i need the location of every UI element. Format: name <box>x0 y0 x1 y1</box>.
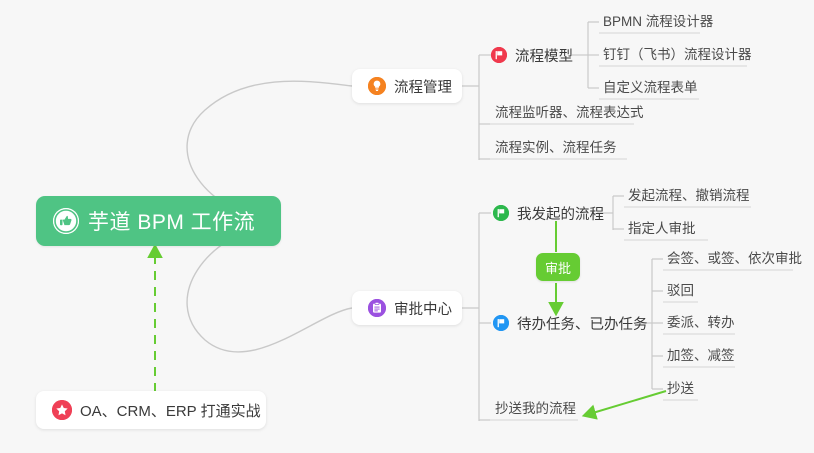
branch-process-management[interactable]: 流程管理 <box>352 69 462 103</box>
flag-icon-blue <box>493 315 509 331</box>
leaf-cc-to-me[interactable]: 抄送我的流程 <box>491 399 580 421</box>
node-label: 我发起的流程 <box>517 203 604 224</box>
leaf-assignee-approval[interactable]: 指定人审批 <box>624 219 700 241</box>
leaf-label: 指定人审批 <box>628 219 696 238</box>
leaf-label: 抄送 <box>667 379 694 398</box>
leaf-cc[interactable]: 抄送 <box>663 379 698 401</box>
leaf-dingtalk-designer[interactable]: 钉钉（飞书）流程设计器 <box>599 45 756 67</box>
leaf-label: 发起流程、撤销流程 <box>628 186 750 205</box>
leaf-label: 委派、转办 <box>667 313 735 332</box>
leaf-label: 钉钉（飞书）流程设计器 <box>603 45 752 64</box>
leaf-label: BPMN 流程设计器 <box>603 12 713 31</box>
node-label: 待办任务、已办任务 <box>517 313 648 334</box>
leaf-label: 会签、或签、依次审批 <box>667 249 802 268</box>
leaf-label: 抄送我的流程 <box>495 399 576 418</box>
node-my-initiated[interactable]: 我发起的流程 <box>491 200 599 226</box>
flag-icon-red <box>491 47 507 63</box>
lightbulb-icon <box>368 77 386 95</box>
leaf-label: 流程实例、流程任务 <box>495 138 617 157</box>
star-icon <box>52 400 72 420</box>
leaf-process-listener[interactable]: 流程监听器、流程表达式 <box>491 103 648 125</box>
annotation-approval-badge: 审批 <box>536 253 580 281</box>
leaf-start-cancel-process[interactable]: 发起流程、撤销流程 <box>624 186 754 208</box>
node-todo-done-tasks[interactable]: 待办任务、已办任务 <box>491 310 639 336</box>
root-node[interactable]: 芋道 BPM 工作流 <box>36 196 281 246</box>
leaf-bpmn-designer[interactable]: BPMN 流程设计器 <box>599 12 717 34</box>
branch-label: 流程管理 <box>394 76 452 97</box>
mindmap-canvas: 芋道 BPM 工作流 流程管理 流程模型 BPMN 流程设计器 钉钉（飞书）流程 <box>0 0 814 453</box>
leaf-add-remove-sign[interactable]: 加签、减签 <box>663 346 739 368</box>
leaf-process-instance[interactable]: 流程实例、流程任务 <box>491 138 621 160</box>
annotation-bottom-label: OA、CRM、ERP 打通实战 <box>80 400 261 421</box>
leaf-reject[interactable]: 驳回 <box>663 281 698 303</box>
leaf-custom-form[interactable]: 自定义流程表单 <box>599 78 702 100</box>
thumbs-up-icon <box>53 208 79 234</box>
node-process-model[interactable]: 流程模型 <box>489 41 572 69</box>
leaf-label: 驳回 <box>667 281 694 300</box>
clipboard-icon <box>368 299 386 317</box>
annotation-bottom-note[interactable]: OA、CRM、ERP 打通实战 <box>36 391 266 429</box>
flag-icon-green <box>493 205 509 221</box>
leaf-label: 流程监听器、流程表达式 <box>495 103 644 122</box>
root-node-label: 芋道 BPM 工作流 <box>88 206 255 236</box>
branch-approval-center[interactable]: 审批中心 <box>352 291 462 325</box>
node-label: 流程模型 <box>515 45 573 66</box>
leaf-label: 自定义流程表单 <box>603 78 698 97</box>
leaf-countersign[interactable]: 会签、或签、依次审批 <box>663 249 806 271</box>
branch-label: 审批中心 <box>394 298 452 319</box>
leaf-label: 加签、减签 <box>667 346 735 365</box>
annotation-approval-label: 审批 <box>545 258 571 277</box>
leaf-delegate-transfer[interactable]: 委派、转办 <box>663 313 739 335</box>
